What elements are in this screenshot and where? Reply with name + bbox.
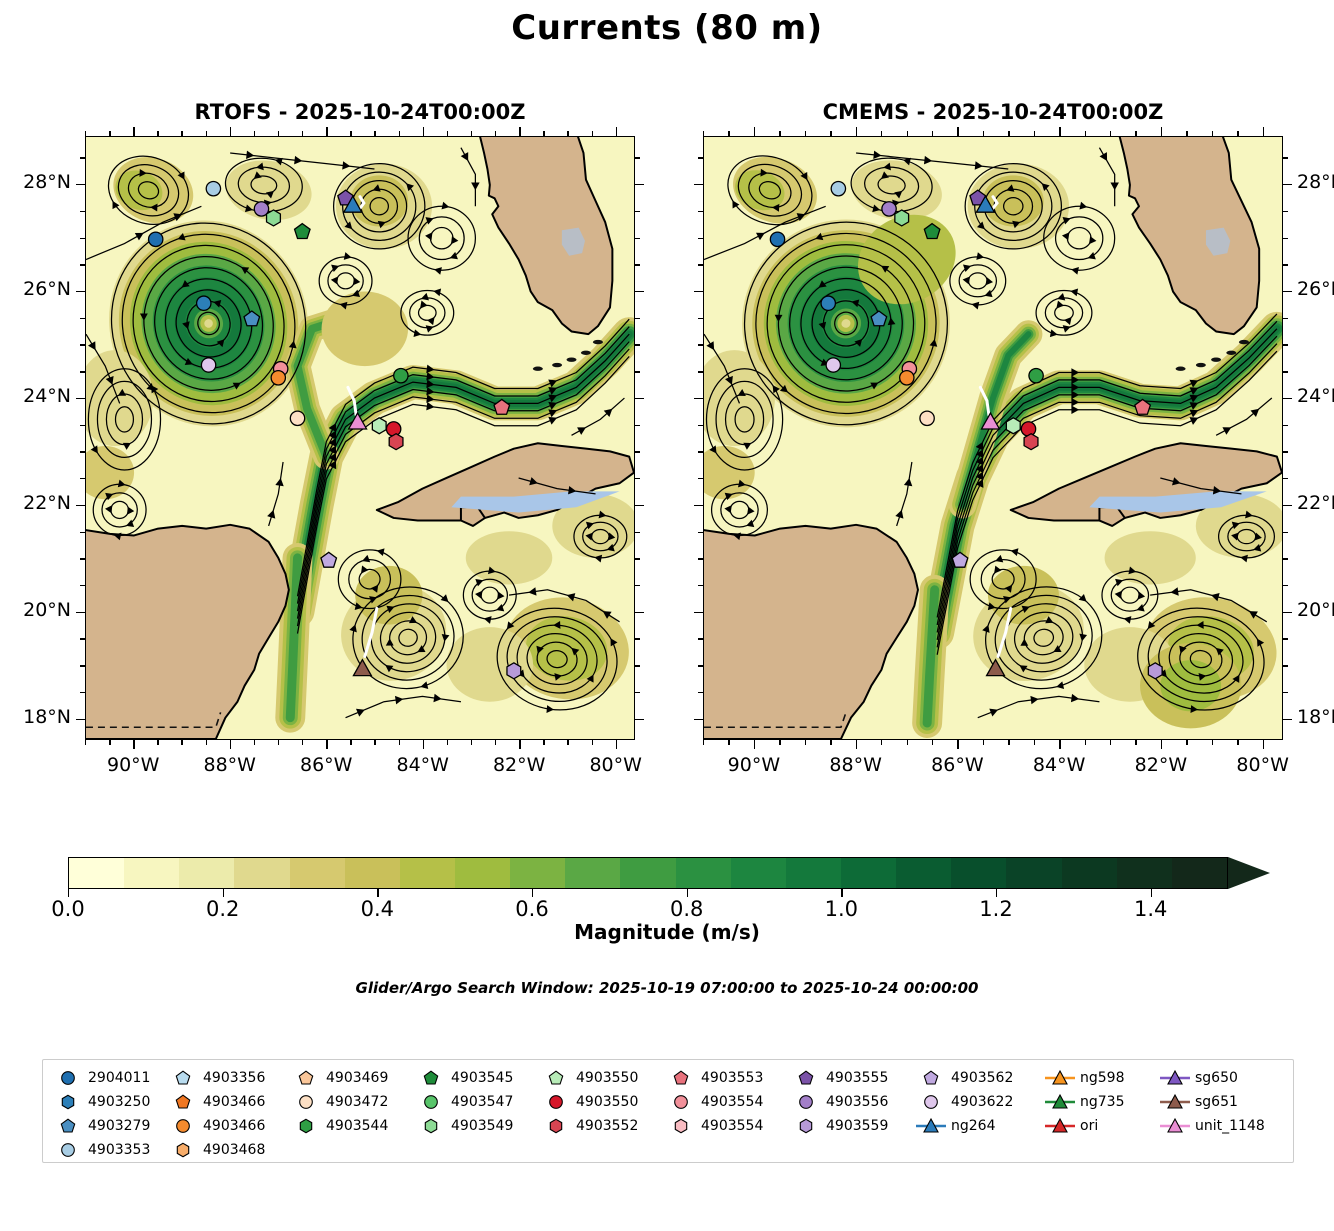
y-minor-tick [698, 211, 703, 212]
x-tick [616, 740, 617, 749]
field-blob [350, 175, 408, 226]
y-axis-label: 22°N [0, 492, 71, 514]
x-minor-tick [779, 740, 780, 745]
legend-label: sg651 [1192, 1094, 1238, 1110]
x-tick-top [423, 127, 424, 136]
platform-marker-4903353[interactable] [831, 181, 845, 195]
x-tick-top [230, 127, 231, 136]
y-axis-label: 18°N [0, 706, 71, 728]
y-minor-tick-right [635, 264, 640, 265]
x-axis-label: 90°W [95, 754, 171, 776]
colorbar-tick-label: 1.4 [1134, 897, 1167, 921]
y-minor-tick [698, 638, 703, 639]
y-tick [76, 719, 85, 720]
x-minor-tick [181, 740, 182, 745]
y-tick-right [1283, 612, 1292, 613]
platform-marker-4903547[interactable] [197, 296, 211, 310]
legend-label: 4903279 [85, 1118, 150, 1134]
y-minor-tick [80, 264, 85, 265]
legend-entry[interactable]: 4903559 [789, 1114, 888, 1138]
legend-label: 4903468 [200, 1142, 265, 1158]
y-minor-tick [698, 425, 703, 426]
legend-label: 4903547 [448, 1094, 513, 1110]
legend-entry[interactable]: sg650 [1158, 1066, 1265, 1090]
colorbar-band [400, 858, 455, 888]
legend-hexagon-icon [789, 1115, 823, 1137]
y-minor-tick-right [1283, 585, 1288, 586]
x-minor-tick [543, 740, 544, 745]
y-minor-tick-right [1283, 478, 1288, 479]
legend-entry[interactable]: 4903553 [664, 1066, 763, 1090]
y-axis-label-right: 28°N [1297, 171, 1334, 193]
legend-column-5: 490355049035504903552 [539, 1066, 638, 1138]
colorbar-band [179, 858, 234, 888]
legend-column-4: 490354549035474903549 [414, 1066, 513, 1138]
colorbar-tick-label: 1.2 [979, 897, 1012, 921]
legend-label: ng598 [1077, 1070, 1124, 1086]
x-tick-top [616, 127, 617, 136]
x-minor-tick [495, 740, 496, 745]
legend-label: 4903250 [85, 1094, 150, 1110]
x-minor-tick [278, 740, 279, 745]
y-minor-tick-right [1283, 532, 1288, 533]
map-svg-rtofs [86, 137, 634, 739]
colorbar-band [1172, 858, 1227, 888]
x-axis-label: 82°W [1123, 754, 1199, 776]
y-minor-tick-right [1283, 157, 1288, 158]
legend-entry[interactable]: 4903279 [51, 1114, 150, 1138]
map-panel-rtofs[interactable] [85, 136, 635, 740]
y-minor-tick-right [1283, 558, 1288, 559]
platform-marker-4903353[interactable] [206, 181, 220, 195]
legend-pentagon-icon [166, 1067, 200, 1089]
legend-hexagon-icon [664, 1115, 698, 1137]
y-minor-tick [80, 558, 85, 559]
colorbar-tick [223, 889, 224, 897]
x-minor-tick [1008, 740, 1009, 745]
y-minor-tick-right [635, 344, 640, 345]
legend-column-3: 490346949034724903544 [289, 1066, 388, 1138]
x-minor-tick [109, 131, 110, 136]
x-axis-label: 84°W [385, 754, 461, 776]
x-minor-tick [157, 131, 158, 136]
legend-label: 4903554 [698, 1094, 763, 1110]
x-minor-tick [592, 131, 593, 136]
legend-entry[interactable]: 4903554 [664, 1090, 763, 1114]
platform-marker-4903549[interactable] [267, 210, 281, 226]
x-axis-label: 84°W [1021, 754, 1097, 776]
platform-marker-4903544[interactable] [1029, 368, 1043, 382]
colorbar [68, 857, 1268, 889]
colorbar-band [1006, 858, 1061, 888]
y-tick-right [635, 505, 644, 506]
platform-marker-4903556[interactable] [882, 202, 896, 216]
y-minor-tick [80, 211, 85, 212]
x-minor-tick [567, 131, 568, 136]
platform-marker-4903559[interactable] [1148, 663, 1162, 679]
legend-entry[interactable]: 4903469 [289, 1066, 388, 1090]
y-tick-right [1283, 184, 1292, 185]
legend-pentagon-icon [914, 1067, 948, 1089]
y-minor-tick [698, 478, 703, 479]
florida-keys [567, 357, 577, 361]
florida-keys [581, 351, 591, 355]
legend-label: 4903550 [573, 1094, 638, 1110]
colorbar-band [951, 858, 1006, 888]
legend-entry[interactable]: 4903545 [414, 1066, 513, 1090]
y-tick-right [1283, 719, 1292, 720]
y-minor-tick [80, 318, 85, 319]
y-minor-tick [698, 692, 703, 693]
x-minor-tick [543, 131, 544, 136]
x-minor-tick [805, 740, 806, 745]
legend-column-7: 490355549035564903559 [789, 1066, 888, 1138]
x-axis-label: 88°W [192, 754, 268, 776]
x-tick [133, 740, 134, 749]
x-axis-label: 82°W [481, 754, 557, 776]
x-minor-tick [471, 740, 472, 745]
x-minor-tick [592, 740, 593, 745]
x-axis-label: 80°W [578, 754, 654, 776]
y-minor-tick [80, 425, 85, 426]
colorbar-band [841, 858, 896, 888]
legend-circle-icon [789, 1091, 823, 1113]
legend[interactable]: 2904011490325049032794903353490335649034… [42, 1059, 1294, 1163]
x-minor-tick [703, 131, 704, 136]
x-tick [957, 740, 958, 749]
panel-title-rtofs: RTOFS - 2025-10-24T00:00Z [85, 100, 635, 124]
colorbar-tick-label: 0.8 [670, 897, 703, 921]
colorbar-band [731, 858, 786, 888]
x-minor-tick [830, 740, 831, 745]
platform-marker-4903550[interactable] [372, 418, 386, 434]
x-minor-tick [830, 131, 831, 136]
y-minor-tick [698, 451, 703, 452]
search-window-text: Glider/Argo Search Window: 2025-10-19 07… [0, 979, 1334, 997]
legend-pentagon-icon [789, 1067, 823, 1089]
legend-entry[interactable]: 4903466 [166, 1114, 265, 1138]
y-tick [694, 505, 703, 506]
x-minor-tick [728, 740, 729, 745]
legend-entry[interactable]: ng598 [1043, 1066, 1124, 1090]
y-minor-tick-right [1283, 211, 1288, 212]
map-svg-cmems [704, 137, 1282, 739]
y-axis-label-right: 26°N [1297, 278, 1334, 300]
platform-marker-4903622[interactable] [201, 358, 215, 372]
y-minor-tick-right [635, 692, 640, 693]
y-minor-tick [698, 157, 703, 158]
legend-entry[interactable]: 4903550 [539, 1066, 638, 1090]
legend-label: sg650 [1192, 1070, 1238, 1086]
y-minor-tick-right [635, 211, 640, 212]
colorbar-tick [68, 889, 69, 897]
colorbar-band [69, 858, 124, 888]
y-tick-right [635, 719, 644, 720]
y-minor-tick [698, 558, 703, 559]
y-tick-right [635, 184, 644, 185]
colorbar-tick [377, 889, 378, 897]
field-blob [983, 175, 1044, 226]
legend-entry[interactable]: 4903472 [289, 1090, 388, 1114]
y-minor-tick [80, 238, 85, 239]
y-tick [76, 291, 85, 292]
legend-entry[interactable]: 4903353 [51, 1138, 150, 1162]
legend-entry[interactable]: 4903622 [914, 1090, 1013, 1114]
colorbar-tick [1151, 889, 1152, 897]
y-tick [694, 719, 703, 720]
legend-entry[interactable]: sg651 [1158, 1090, 1265, 1114]
y-minor-tick-right [635, 425, 640, 426]
y-minor-tick-right [635, 665, 640, 666]
y-minor-tick-right [635, 318, 640, 319]
legend-entry[interactable]: 2904011 [51, 1066, 150, 1090]
x-minor-tick [1186, 740, 1187, 745]
y-tick-right [1283, 291, 1292, 292]
x-minor-tick [983, 740, 984, 745]
legend-entry[interactable]: 4903549 [414, 1114, 513, 1138]
x-minor-tick [447, 131, 448, 136]
legend-label: 4903466 [200, 1118, 265, 1134]
platform-marker-4903549[interactable] [895, 210, 909, 226]
y-minor-tick [80, 344, 85, 345]
y-minor-tick [698, 318, 703, 319]
platform-marker-4903472[interactable] [920, 411, 934, 425]
x-minor-tick [1135, 131, 1136, 136]
x-minor-tick [85, 740, 86, 745]
x-minor-tick [374, 131, 375, 136]
x-minor-tick [1034, 740, 1035, 745]
legend-label: 4903559 [823, 1118, 888, 1134]
legend-column-10: sg650sg651unit_1148 [1158, 1066, 1265, 1138]
y-tick [76, 398, 85, 399]
legend-hexagon-icon [166, 1139, 200, 1161]
x-minor-tick [495, 131, 496, 136]
legend-pentagon-icon [664, 1067, 698, 1089]
platform-marker-4903550[interactable] [1006, 418, 1020, 434]
colorbar-tick-label: 1.0 [825, 897, 858, 921]
platform-marker-4903552[interactable] [389, 434, 403, 450]
platform-marker-4903550b[interactable] [386, 422, 400, 436]
legend-circle-icon [664, 1091, 698, 1113]
legend-column-1: 2904011490325049032794903353 [51, 1066, 150, 1162]
legend-column-6: 490355349035544903554 [664, 1066, 763, 1138]
colorbar-band [124, 858, 179, 888]
y-minor-tick-right [635, 371, 640, 372]
y-tick [694, 398, 703, 399]
legend-triangle-line-icon [1043, 1067, 1077, 1089]
platform-marker-4903466[interactable] [900, 371, 914, 385]
y-minor-tick [698, 371, 703, 372]
legend-label: 4903356 [200, 1070, 265, 1086]
legend-triangle-line-icon [914, 1115, 948, 1137]
legend-entry[interactable]: 4903250 [51, 1090, 150, 1114]
legend-hexagon-icon [539, 1115, 573, 1137]
legend-entry[interactable]: 4903556 [789, 1090, 888, 1114]
platform-marker-4903466[interactable] [271, 371, 285, 385]
y-axis-label-right: 20°N [1297, 599, 1334, 621]
platform-marker-4903552[interactable] [1024, 434, 1038, 450]
x-axis-label: 90°W [716, 754, 792, 776]
legend-pentagon-icon [289, 1067, 323, 1089]
legend-entry[interactable]: 4903356 [166, 1066, 265, 1090]
legend-triangle-line-icon [1043, 1091, 1077, 1113]
x-axis-label: 88°W [818, 754, 894, 776]
x-tick [856, 740, 857, 749]
legend-label: 4903472 [323, 1094, 388, 1110]
x-minor-tick [1212, 740, 1213, 745]
y-axis-label-right: 22°N [1297, 492, 1334, 514]
legend-entry[interactable]: 4903547 [414, 1090, 513, 1114]
x-minor-tick [278, 131, 279, 136]
y-minor-tick [80, 692, 85, 693]
x-minor-tick [881, 131, 882, 136]
florida-keys [533, 367, 543, 371]
legend-label: 4903550 [573, 1070, 638, 1086]
platform-marker-2904011[interactable] [149, 232, 163, 246]
legend-entry[interactable]: ori [1043, 1114, 1124, 1138]
florida-keys [1226, 351, 1236, 355]
map-panel-cmems[interactable] [703, 136, 1283, 740]
x-minor-tick [399, 131, 400, 136]
platform-marker-4903559[interactable] [507, 663, 521, 679]
x-minor-tick [206, 740, 207, 745]
x-tick-top [856, 127, 857, 136]
platform-marker-4903544[interactable] [394, 368, 408, 382]
legend-triangle-line-icon [1043, 1115, 1077, 1137]
legend-label: unit_1148 [1192, 1118, 1265, 1134]
florida-keys [552, 363, 562, 367]
y-minor-tick [698, 264, 703, 265]
y-tick [694, 184, 703, 185]
colorbar-band [234, 858, 289, 888]
platform-marker-4903472[interactable] [290, 411, 304, 425]
legend-label: 2904011 [85, 1070, 150, 1086]
x-tick-top [957, 127, 958, 136]
legend-circle-icon [166, 1115, 200, 1137]
x-minor-tick [1237, 131, 1238, 136]
legend-label: 4903562 [948, 1070, 1013, 1086]
x-minor-tick [1008, 131, 1009, 136]
legend-entry[interactable]: ng735 [1043, 1090, 1124, 1114]
x-minor-tick [157, 740, 158, 745]
y-minor-tick-right [635, 157, 640, 158]
field-blob [447, 627, 534, 702]
legend-hexagon-icon [51, 1091, 85, 1113]
x-minor-tick [881, 740, 882, 745]
x-minor-tick [374, 740, 375, 745]
x-minor-tick [805, 131, 806, 136]
colorbar-tick-label: 0.4 [361, 897, 394, 921]
colorbar-tick [687, 889, 688, 897]
platform-marker-4903550b[interactable] [1021, 422, 1035, 436]
legend-pentagon-icon [539, 1067, 573, 1089]
legend-entry[interactable]: ng264 [914, 1114, 1013, 1138]
y-tick-right [635, 291, 644, 292]
legend-entry[interactable]: 4903468 [166, 1138, 265, 1162]
colorbar-tick [996, 889, 997, 897]
y-minor-tick-right [1283, 238, 1288, 239]
y-minor-tick [80, 157, 85, 158]
y-minor-tick-right [635, 532, 640, 533]
legend-label: 4903556 [823, 1094, 888, 1110]
y-minor-tick-right [1283, 665, 1288, 666]
colorbar-tick-label: 0.0 [51, 897, 84, 921]
y-minor-tick [698, 238, 703, 239]
x-tick-top [519, 127, 520, 136]
florida-keys [593, 340, 603, 344]
x-minor-tick [399, 740, 400, 745]
legend-circle-icon [414, 1091, 448, 1113]
legend-entry[interactable]: 4903466 [166, 1090, 265, 1114]
legend-entry[interactable]: 4903554 [664, 1114, 763, 1138]
x-minor-tick [1034, 131, 1035, 136]
field-blob [466, 531, 553, 584]
colorbar-extend-arrow [1228, 857, 1270, 889]
legend-circle-icon [289, 1091, 323, 1113]
x-minor-tick [471, 131, 472, 136]
x-minor-tick [206, 131, 207, 136]
x-minor-tick [254, 131, 255, 136]
colorbar-band [620, 858, 675, 888]
x-minor-tick [1186, 131, 1187, 136]
platform-marker-2904011[interactable] [770, 232, 784, 246]
colorbar-band [565, 858, 620, 888]
x-minor-tick [350, 740, 351, 745]
platform-marker-4903547[interactable] [821, 296, 835, 310]
y-minor-tick-right [635, 638, 640, 639]
x-tick [754, 740, 755, 749]
legend-entry[interactable]: 4903562 [914, 1066, 1013, 1090]
legend-entry[interactable]: 4903555 [789, 1066, 888, 1090]
colorbar-band [1062, 858, 1117, 888]
page-title: Currents (80 m) [0, 8, 1334, 48]
x-minor-tick [447, 740, 448, 745]
colorbar-band [455, 858, 510, 888]
legend-triangle-line-icon [1158, 1067, 1192, 1089]
florida-keys [1239, 340, 1249, 344]
legend-hexagon-icon [289, 1115, 323, 1137]
y-axis-label-right: 24°N [1297, 385, 1334, 407]
y-minor-tick-right [1283, 371, 1288, 372]
y-minor-tick-right [635, 478, 640, 479]
y-tick [694, 291, 703, 292]
y-minor-tick [698, 585, 703, 586]
x-minor-tick [254, 740, 255, 745]
x-minor-tick [1110, 131, 1111, 136]
legend-label: 4903555 [823, 1070, 888, 1086]
x-axis-label: 86°W [288, 754, 364, 776]
legend-entry[interactable]: unit_1148 [1158, 1114, 1265, 1138]
legend-entry[interactable]: 4903550 [539, 1090, 638, 1114]
y-minor-tick [80, 665, 85, 666]
x-minor-tick [302, 740, 303, 745]
field-blob [1160, 660, 1221, 711]
platform-marker-4903622[interactable] [826, 358, 840, 372]
y-minor-tick-right [1283, 344, 1288, 345]
y-axis-label: 20°N [0, 599, 71, 621]
x-minor-tick [1135, 740, 1136, 745]
colorbar-label: Magnitude (m/s) [0, 920, 1334, 944]
legend-pentagon-icon [166, 1091, 200, 1113]
y-tick [694, 612, 703, 613]
y-axis-label: 24°N [0, 385, 71, 407]
legend-entry[interactable]: 4903552 [539, 1114, 638, 1138]
y-tick-right [1283, 398, 1292, 399]
florida-keys [1176, 367, 1186, 371]
y-minor-tick-right [1283, 692, 1288, 693]
legend-label: 4903469 [323, 1070, 388, 1086]
legend-entry[interactable]: 4903544 [289, 1114, 388, 1138]
